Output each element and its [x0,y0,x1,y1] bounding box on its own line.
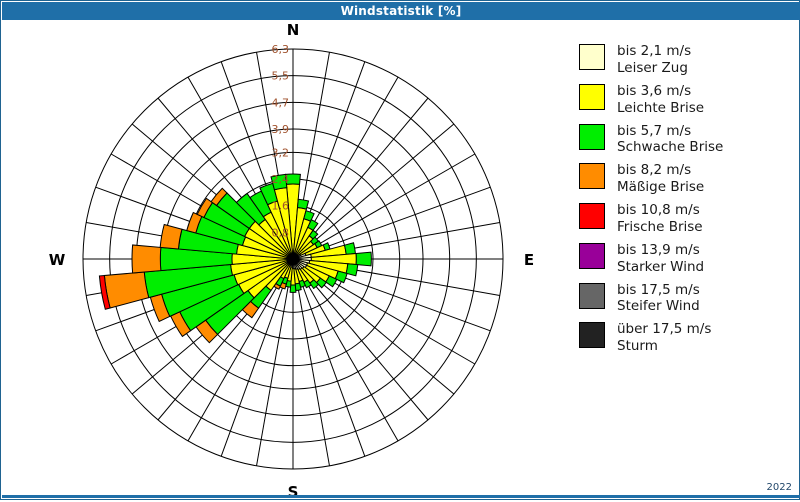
legend-item-speed: bis 8,2 m/s [617,162,704,179]
legend-item-text: bis 10,8 m/sFrische Brise [617,202,703,236]
radial-tick-label: 1,6 [272,200,290,213]
legend-item-speed: bis 3,6 m/s [617,83,704,100]
windrose-svg: 0,81,62,43,23,94,75,56,3NSWE [1,20,561,498]
compass-label-east: E [524,251,534,269]
radial-tick-label: 3,2 [272,146,290,159]
legend-item-text: bis 13,9 m/sStarker Wind [617,242,704,276]
legend-item: bis 10,8 m/sFrische Brise [579,202,794,236]
legend-item-text: bis 3,6 m/sLeichte Brise [617,83,704,117]
legend-item-speed: bis 17,5 m/s [617,282,700,299]
windrose-wedge [160,224,182,248]
legend-item-speed: bis 10,8 m/s [617,202,703,219]
radial-tick-label: 4,7 [272,96,290,109]
legend-item-name: Steifer Wind [617,298,700,315]
legend-item-name: Frische Brise [617,219,703,236]
legend-item: bis 8,2 m/sMäßige Brise [579,162,794,196]
radial-tick-label: 5,5 [272,70,290,83]
page-title: Windstatistik [%] [341,4,462,18]
legend-item-text: über 17,5 m/sSturm [617,321,711,355]
window-bottom-bar [2,495,800,498]
windrose-wedge [298,199,309,209]
legend-item: bis 13,9 m/sStarker Wind [579,242,794,276]
window-title-bar: Windstatistik [%] [2,2,800,20]
windrose-wedge [335,271,347,283]
legend-item-text: bis 5,7 m/sSchwache Brise [617,123,723,157]
legend-swatch-sturm [579,322,605,348]
windrose-wedge [304,211,314,222]
legend-swatch-schwache-brise [579,124,605,150]
chart-window: Windstatistik [%] 0,81,62,43,23,94,75,56… [0,0,800,500]
legend-swatch-frische-brise [579,203,605,229]
legend-item-text: bis 8,2 m/sMäßige Brise [617,162,704,196]
windrose-plot: 0,81,62,43,23,94,75,56,3NSWE [1,20,561,498]
legend: bis 2,1 m/sLeiser Zugbis 3,6 m/sLeichte … [579,43,794,361]
legend-item-speed: bis 5,7 m/s [617,123,723,140]
legend-swatch-starker-wind [579,243,605,269]
legend-item-text: bis 17,5 m/sSteifer Wind [617,282,700,316]
legend-item: bis 3,6 m/sLeichte Brise [579,83,794,117]
legend-swatch-maessige-brise [579,163,605,189]
legend-item-name: Schwache Brise [617,139,723,156]
legend-item-name: Leichte Brise [617,100,704,117]
compass-label-west: W [49,251,66,269]
year-label: 2022 [767,482,792,493]
legend-swatch-leichte-brise [579,84,605,110]
legend-swatch-leiser-zug [579,44,605,70]
legend-item-speed: bis 13,9 m/s [617,242,704,259]
radial-tick-label: 0,8 [272,226,290,239]
legend-item-name: Sturm [617,338,711,355]
windrose-wedge [132,245,161,273]
legend-item-name: Starker Wind [617,259,704,276]
windrose-wedge [346,264,358,276]
windrose-wedge [345,243,356,255]
legend-item: bis 5,7 m/sSchwache Brise [579,123,794,157]
legend-swatch-steifer-wind [579,283,605,309]
legend-item-name: Mäßige Brise [617,179,704,196]
windrose-wedge [356,252,371,266]
compass-label-north: N [287,21,300,39]
legend-item: über 17,5 m/sSturm [579,321,794,355]
legend-item: bis 17,5 m/sSteifer Wind [579,282,794,316]
legend-item: bis 2,1 m/sLeiser Zug [579,43,794,77]
radial-tick-label: 3,9 [272,123,290,136]
legend-item-speed: bis 2,1 m/s [617,43,691,60]
legend-item-text: bis 2,1 m/sLeiser Zug [617,43,691,77]
legend-item-name: Leiser Zug [617,60,691,77]
radial-tick-label: 6,3 [272,43,290,56]
radial-tick-label: 2,4 [272,173,290,186]
legend-item-speed: über 17,5 m/s [617,321,711,338]
windrose-sectors [99,174,371,343]
